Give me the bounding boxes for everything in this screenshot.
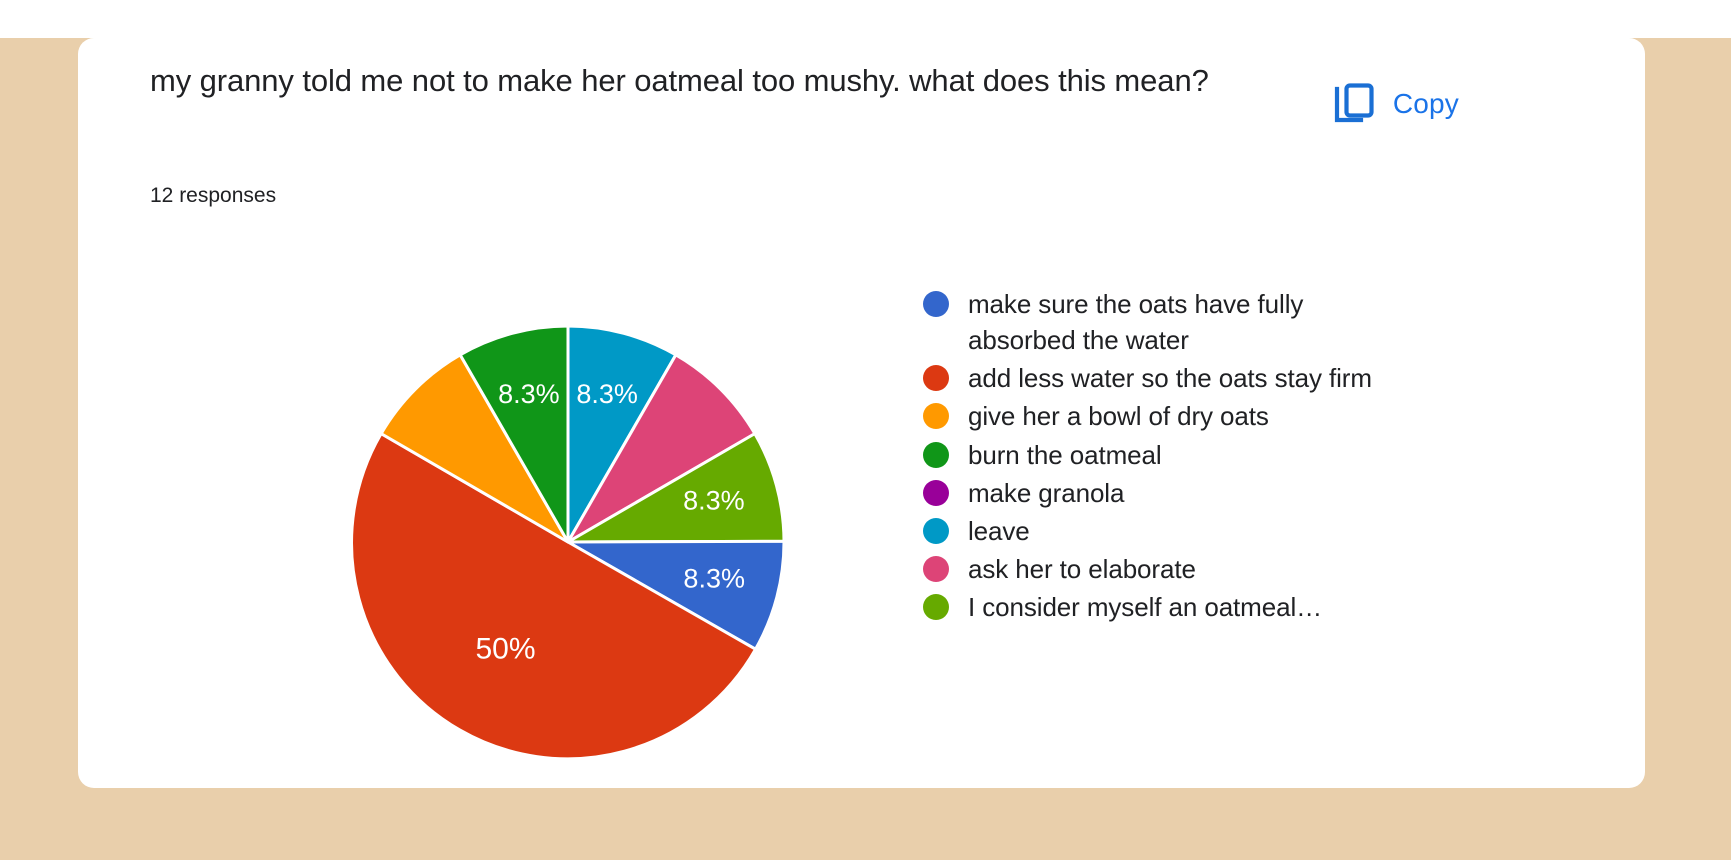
legend-color-swatch: [923, 291, 949, 317]
response-count: 12 responses: [150, 182, 276, 209]
pie-slice[interactable]: [568, 355, 755, 542]
pie-slice-label: 8.3%: [498, 379, 560, 409]
question-result-card: my granny told me not to make her oatmea…: [78, 38, 1645, 788]
legend-item-label: leave: [968, 513, 1030, 549]
legend-color-swatch: [923, 480, 949, 506]
page-title: my granny told me not to make her oatmea…: [150, 60, 1330, 102]
pie-slice-label: 8.3%: [576, 379, 638, 409]
legend-item-label: I consider myself an oatmeal…: [968, 589, 1322, 625]
legend-item[interactable]: give her a bowl of dry oats: [923, 398, 1403, 434]
legend-item-label: give her a bowl of dry oats: [968, 398, 1269, 434]
chart-legend: make sure the oats have fully absorbed t…: [923, 286, 1403, 627]
pie-slice[interactable]: [568, 541, 784, 649]
pie-slice[interactable]: [381, 355, 568, 542]
legend-color-swatch: [923, 594, 949, 620]
legend-item-label: make granola: [968, 475, 1124, 511]
legend-color-swatch: [923, 556, 949, 582]
pie-chart-svg: 8.3%8.3%8.3%50%8.3%: [348, 322, 788, 762]
legend-item[interactable]: leave: [923, 513, 1403, 549]
legend-item[interactable]: I consider myself an oatmeal…: [923, 589, 1403, 625]
copy-button[interactable]: Copy: [1333, 82, 1459, 126]
legend-color-swatch: [923, 365, 949, 391]
pie-slice[interactable]: [568, 434, 784, 542]
legend-color-swatch: [923, 518, 949, 544]
pie-slice-label: 8.3%: [683, 486, 745, 516]
legend-item[interactable]: make sure the oats have fully absorbed t…: [923, 286, 1403, 358]
legend-item[interactable]: add less water so the oats stay firm: [923, 360, 1403, 396]
pie-slice[interactable]: [568, 326, 676, 542]
legend-item-label: add less water so the oats stay firm: [968, 360, 1372, 396]
pie-slice-label: 50%: [475, 633, 535, 666]
legend-color-swatch: [923, 403, 949, 429]
legend-item-label: ask her to elaborate: [968, 551, 1196, 587]
copy-button-label: Copy: [1393, 88, 1459, 120]
pie-slice[interactable]: [352, 434, 756, 759]
legend-item[interactable]: make granola: [923, 475, 1403, 511]
copy-icon: [1333, 82, 1375, 126]
pie-slice[interactable]: [460, 326, 568, 542]
legend-color-swatch: [923, 442, 949, 468]
pie-slice-label: 8.3%: [683, 564, 745, 594]
legend-item[interactable]: burn the oatmeal: [923, 437, 1403, 473]
legend-item-label: burn the oatmeal: [968, 437, 1162, 473]
legend-item[interactable]: ask her to elaborate: [923, 551, 1403, 587]
page-root: my granny told me not to make her oatmea…: [0, 0, 1731, 860]
legend-item-label: make sure the oats have fully absorbed t…: [968, 286, 1403, 358]
pie-chart: 8.3%8.3%8.3%50%8.3%: [78, 38, 1645, 788]
